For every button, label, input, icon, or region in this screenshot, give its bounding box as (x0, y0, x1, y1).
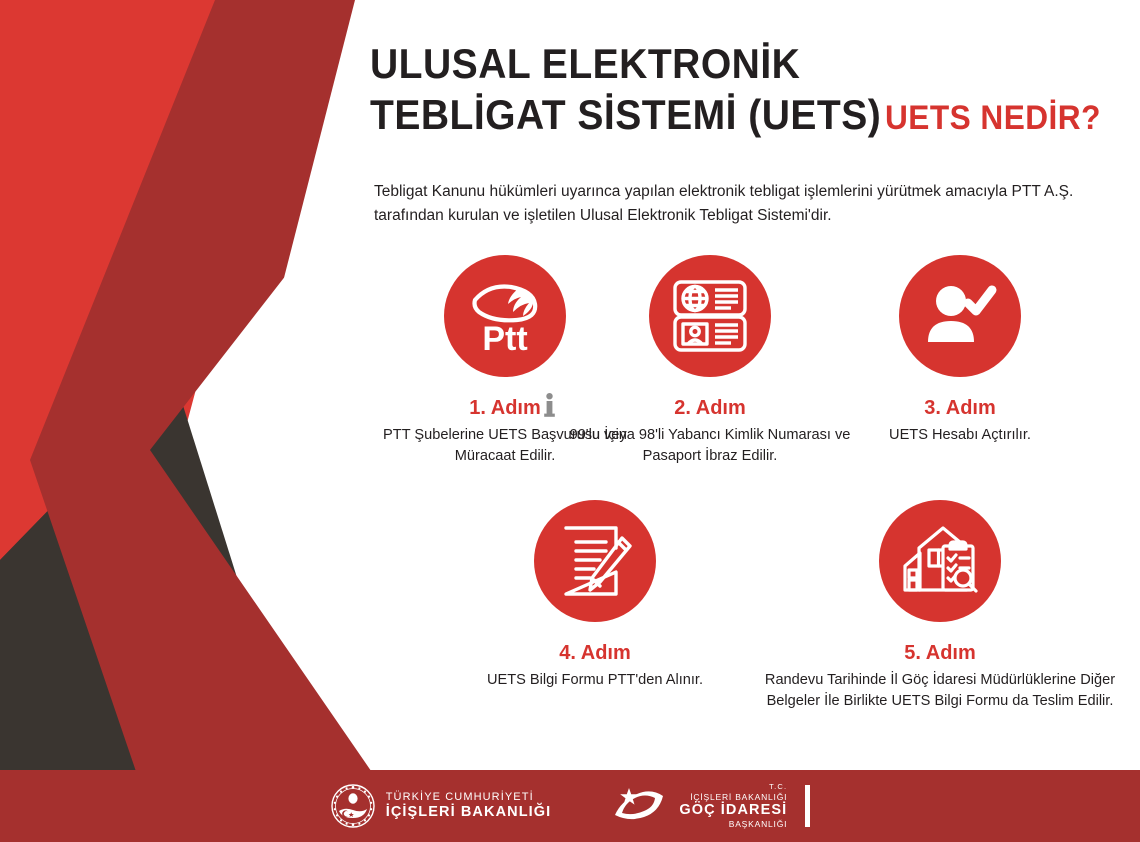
step-3-title: 3. Adım (820, 397, 1100, 420)
step-5: 5. Adım Randevu Tarihinde İl Göç İdaresi… (745, 500, 1135, 712)
migration-authority-logo: T.C. İÇİŞLERİ BAKANLIĞI GÖÇ İDARESİ BAŞK… (611, 783, 810, 829)
ptt-wordmark: Ptt (482, 320, 527, 358)
step-4-description: UETS Bilgi Formu PTT'den Alınır. (450, 670, 740, 691)
title-line-1: ULUSAL ELEKTRONİK (370, 38, 1049, 89)
step-3-description: UETS Hesabı Açtırılır. (820, 425, 1100, 446)
migration-logo-line-3: GÖÇ İDARESİ (679, 802, 787, 819)
step-4: 4. Adım UETS Bilgi Formu PTT'den Alınır. (450, 500, 740, 691)
crescent-star-dove-icon (611, 784, 669, 828)
footer-bar: TÜRKİYE CUMHURİYETİ İÇİŞLERİ BAKANLIĞI T… (0, 770, 1140, 842)
step-2-title-text: 2. Adım (674, 397, 746, 419)
ministry-logo-line-1: TÜRKİYE CUMHURİYETİ (386, 791, 552, 804)
step-2-title: 2. Adım (565, 397, 855, 420)
migration-logo-text: T.C. İÇİŞLERİ BAKANLIĞI GÖÇ İDARESİ BAŞK… (679, 783, 787, 829)
migration-logo-line-2: İÇİŞLERİ BAKANLIĞI (679, 792, 787, 802)
step-3: 3. Adım UETS Hesabı Açtırılır. (820, 255, 1100, 446)
title-line-2: TEBLİGAT SİSTEMİ (UETS) (370, 89, 881, 140)
step-5-title: 5. Adım (745, 642, 1135, 665)
title-accent-text: UETS NEDİR? (885, 98, 1101, 139)
building-clipboard-search-icon (897, 518, 983, 604)
content-area: ULUSAL ELEKTRONİK TEBLİGAT SİSTEMİ (UETS… (360, 0, 1100, 770)
step-2-icon-circle (649, 255, 771, 377)
step-2-description: 99'lu veya 98'li Yabancı Kimlik Numarası… (565, 425, 855, 467)
step-5-description: Randevu Tarihinde İl Göç İdaresi Müdürlü… (745, 670, 1135, 712)
step-3-icon-circle (899, 255, 1021, 377)
step-4-title: 4. Adım (450, 642, 740, 665)
ministry-of-interior-logo: TÜRKİYE CUMHURİYETİ İÇİŞLERİ BAKANLIĞI (330, 783, 552, 829)
footer-divider-bar (805, 785, 810, 827)
step-5-icon-circle (879, 500, 1001, 622)
migration-logo-line-1: T.C. (679, 783, 787, 792)
step-4-icon-circle (534, 500, 656, 622)
ptt-logo-icon: Ptt (459, 270, 551, 362)
uets-infographic-poster: ULUSAL ELEKTRONİK TEBLİGAT SİSTEMİ (UETS… (0, 0, 1140, 842)
user-check-icon (920, 276, 1000, 356)
migration-logo-line-4: BAŞKANLIĞI (679, 819, 787, 829)
page-title: ULUSAL ELEKTRONİK TEBLİGAT SİSTEMİ (UETS… (370, 38, 1100, 140)
document-pencil-icon (554, 520, 636, 602)
intro-paragraph: Tebligat Kanunu hükümleri uyarınca yapıl… (374, 180, 1074, 228)
info-i-icon (543, 393, 556, 417)
step-2: 2. Adım 99'lu veya 98'li Yabancı Kimlik … (565, 255, 855, 467)
turkish-state-emblem-icon (330, 783, 376, 829)
ministry-logo-text: TÜRKİYE CUMHURİYETİ İÇİŞLERİ BAKANLIĞI (386, 791, 552, 821)
title-line-2-row: TEBLİGAT SİSTEMİ (UETS)UETS NEDİR? (370, 89, 1049, 140)
id-card-icon (667, 273, 753, 359)
step-1-icon-circle: Ptt (444, 255, 566, 377)
ministry-logo-line-2: İÇİŞLERİ BAKANLIĞI (386, 804, 552, 821)
